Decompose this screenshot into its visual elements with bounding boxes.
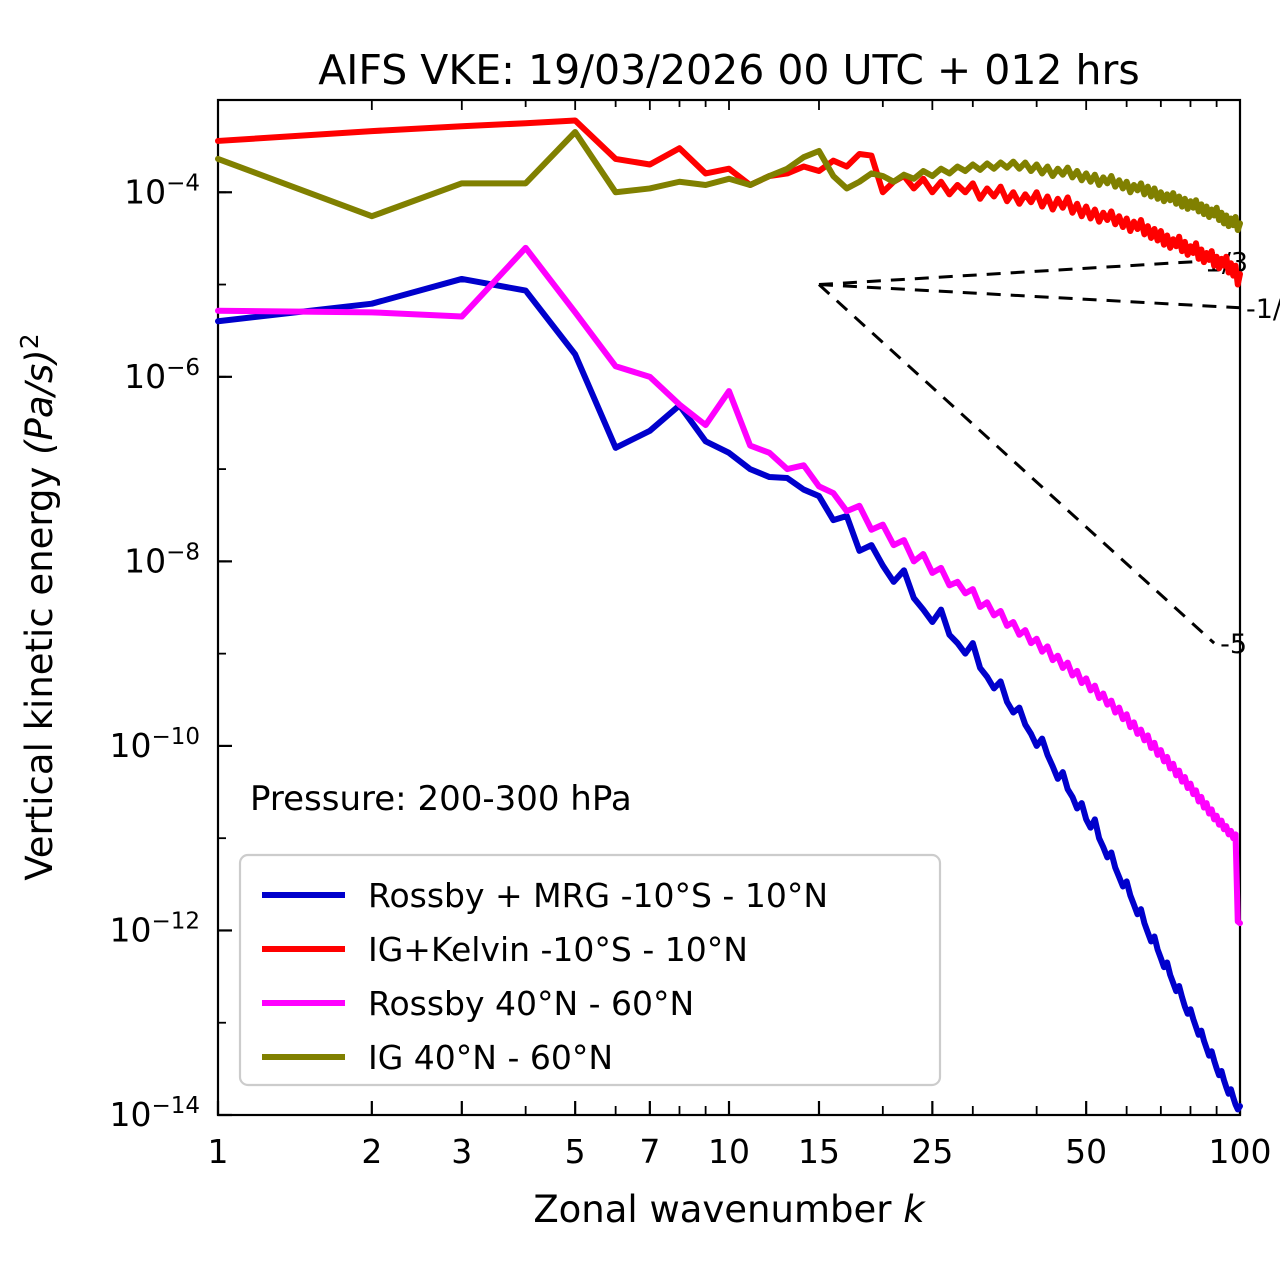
- x-ticklabel-5: 5: [565, 1132, 586, 1171]
- legend-label-0[interactable]: Rossby + MRG -10°S - 10°N: [368, 876, 828, 915]
- legend-label-3[interactable]: IG 40°N - 60°N: [368, 1038, 613, 1077]
- x-ticklabel-1: 1: [208, 1132, 229, 1171]
- x-ticklabel-25: 25: [911, 1132, 953, 1171]
- chart-legend[interactable]: Rossby + MRG -10°S - 10°NIG+Kelvin -10°S…: [240, 855, 940, 1085]
- y-axis-title: Vertical kinetic energy (Pa/s)2: [15, 333, 62, 880]
- refline-label--1-3: -1/3: [1246, 294, 1280, 325]
- legend-label-1[interactable]: IG+Kelvin -10°S - 10°N: [368, 930, 748, 969]
- chart-title: AIFS VKE: 19/03/2026 00 UTC + 012 hrs: [318, 46, 1139, 94]
- legend-label-2[interactable]: Rossby 40°N - 60°N: [368, 984, 694, 1023]
- chart-canvas: AIFS VKE: 19/03/2026 00 UTC + 012 hrs 12…: [0, 0, 1280, 1288]
- x-ticklabel-100: 100: [1209, 1132, 1272, 1171]
- refline-label--5: -5: [1220, 629, 1247, 660]
- x-ticklabel-2: 2: [361, 1132, 382, 1171]
- x-ticklabel-10: 10: [708, 1132, 750, 1171]
- vke-spectrum-chart: AIFS VKE: 19/03/2026 00 UTC + 012 hrs 12…: [0, 0, 1280, 1288]
- svg-text:Vertical kinetic energy (Pa/s): Vertical kinetic energy (Pa/s)2: [15, 333, 62, 880]
- y-axis-title-text: Vertical kinetic energy: [18, 455, 61, 881]
- x-ticklabel-15: 15: [798, 1132, 840, 1171]
- x-ticklabel-50: 50: [1065, 1132, 1107, 1171]
- x-axis-title: Zonal wavenumber k: [533, 1188, 926, 1231]
- x-ticklabel-7: 7: [639, 1132, 660, 1171]
- pressure-annotation: Pressure: 200-300 hPa: [250, 779, 632, 819]
- x-ticklabel-3: 3: [451, 1132, 472, 1171]
